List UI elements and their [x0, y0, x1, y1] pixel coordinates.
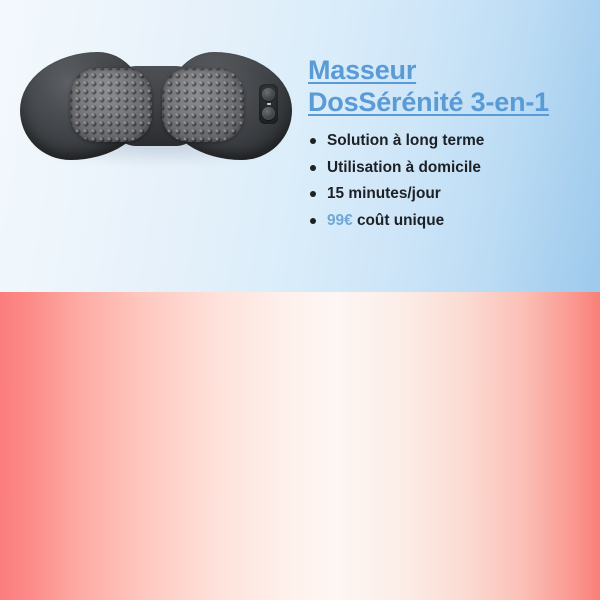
massager-headline: Masseur DosSérénité 3-en-1	[308, 54, 594, 118]
pad-nubs-right	[162, 68, 244, 142]
massage-pad-left	[70, 68, 152, 142]
comparison-poster: Masseur DosSérénité 3-en-1 Solution à lo…	[0, 0, 600, 600]
list-item-price: 99€ coût unique	[308, 212, 594, 230]
list-item: Solution à long terme	[308, 132, 594, 150]
massager-section: Masseur DosSérénité 3-en-1 Solution à lo…	[0, 0, 600, 292]
massager-copy-block: Masseur DosSérénité 3-en-1 Solution à lo…	[308, 54, 594, 238]
massager-price-label: coût unique	[353, 212, 444, 229]
benefit-text: Utilisation à domicile	[327, 159, 481, 176]
benefit-text: 15 minutes/jour	[327, 185, 441, 202]
benefit-text: Solution à long terme	[327, 132, 484, 149]
back-massager-device	[20, 50, 292, 174]
massager-headline-line1: Masseur	[308, 55, 416, 85]
list-item: Utilisation à domicile	[308, 159, 594, 177]
massager-price-value: 99€	[327, 212, 353, 229]
massage-pad-right	[162, 68, 244, 142]
list-item: 15 minutes/jour	[308, 185, 594, 203]
device-control-panel[interactable]	[259, 84, 278, 124]
mode-button-icon[interactable]	[262, 107, 275, 120]
device-body	[20, 50, 292, 162]
massager-benefit-list: Solution à long terme Utilisation à domi…	[308, 132, 594, 230]
massager-headline-line2: DosSérénité 3-en-1	[308, 87, 549, 117]
power-button-icon[interactable]	[262, 88, 275, 101]
status-led-indicator	[267, 103, 271, 105]
chiropractor-section: Chiropracteurs Soulagement temporaire Re…	[0, 292, 600, 600]
pad-nubs-left	[70, 68, 152, 142]
